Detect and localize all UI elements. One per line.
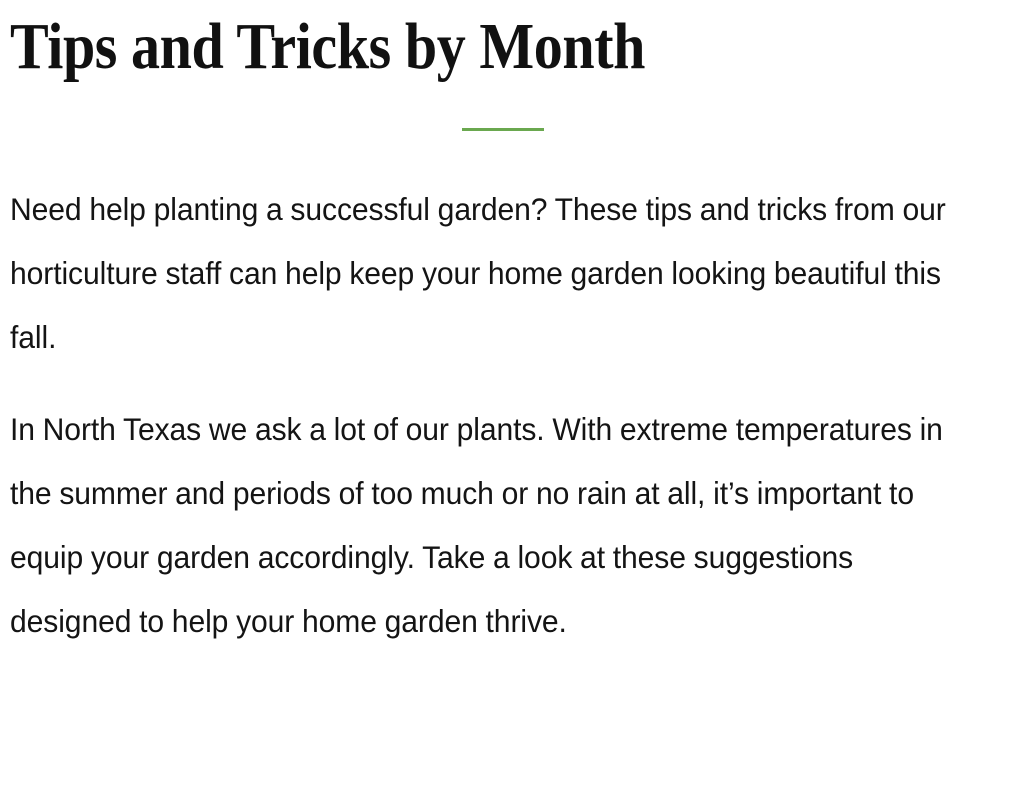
page-title: Tips and Tricks by Month bbox=[10, 0, 877, 80]
body-paragraph-1: Need help planting a successful garden? … bbox=[10, 177, 951, 369]
title-underline-rule bbox=[462, 128, 544, 131]
article-body: Need help planting a successful garden? … bbox=[10, 177, 995, 653]
article-page: Tips and Tricks by Month Need help plant… bbox=[0, 0, 1023, 793]
body-paragraph-2: In North Texas we ask a lot of our plant… bbox=[10, 397, 951, 653]
article-content-column: Tips and Tricks by Month Need help plant… bbox=[10, 0, 995, 653]
